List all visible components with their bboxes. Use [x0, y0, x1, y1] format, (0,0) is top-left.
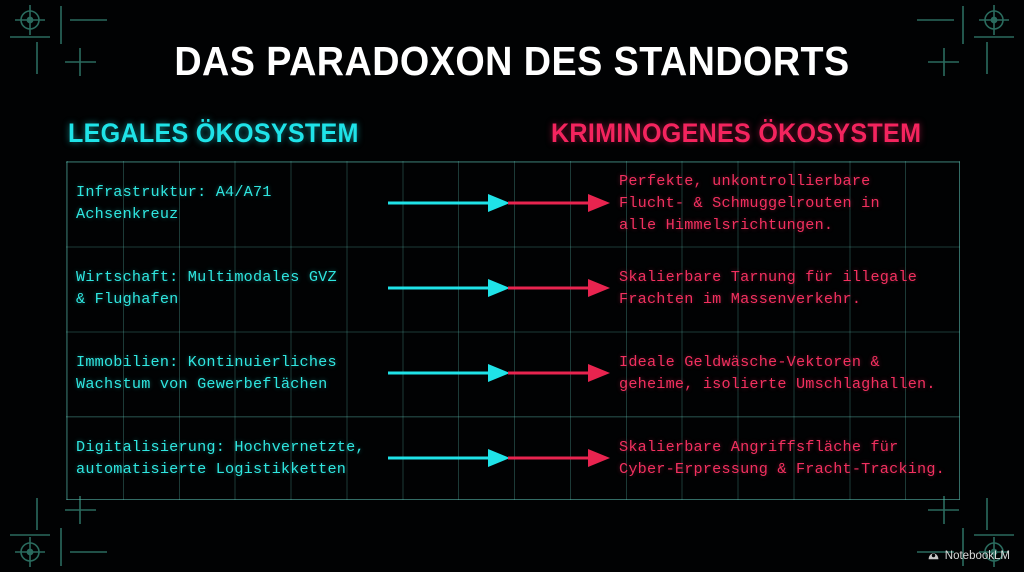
table-row: Immobilien: Kontinuierliches Wachstum vo… — [66, 331, 960, 416]
column-heading-legal: LEGALES ÖKOSYSTEM — [68, 118, 359, 149]
table-row: Digitalisierung: Hochvernetzte, automati… — [66, 415, 960, 500]
notebooklm-logo-icon — [927, 549, 940, 562]
row-legal-text: Infrastruktur: A4/A71 Achsenkreuz — [76, 161, 386, 246]
table-row: Wirtschaft: Multimodales GVZ & Flughafen… — [66, 246, 960, 331]
row-arrow-pair — [388, 331, 610, 416]
corner-mark-bottom-left — [4, 492, 114, 568]
row-legal-text: Digitalisierung: Hochvernetzte, automati… — [76, 415, 386, 500]
page-title: DAS PARADOXON DES STANDORTS — [41, 38, 983, 85]
row-arrow-pair — [388, 415, 610, 500]
row-arrow-pair — [388, 246, 610, 331]
watermark-label: NotebookLM — [945, 550, 1010, 562]
table-row: Infrastruktur: A4/A71 Achsenkreuz Perfek… — [66, 161, 960, 246]
column-heading-criminogenic: KRIMINOGENES ÖKOSYSTEM — [551, 118, 921, 149]
notebooklm-watermark: NotebookLM — [927, 549, 1010, 562]
arrow-flow-icon — [388, 363, 610, 383]
row-legal-text: Immobilien: Kontinuierliches Wachstum vo… — [76, 331, 386, 416]
arrow-flow-icon — [388, 193, 610, 213]
infographic-canvas: DAS PARADOXON DES STANDORTS LEGALES ÖKOS… — [0, 0, 1024, 572]
row-criminogenic-text: Perfekte, unkontrollierbare Flucht- & Sc… — [619, 161, 964, 246]
row-criminogenic-text: Ideale Geldwäsche-Vektoren & geheime, is… — [619, 331, 964, 416]
row-arrow-pair — [388, 161, 610, 246]
row-legal-text: Wirtschaft: Multimodales GVZ & Flughafen — [76, 246, 386, 331]
crosshair-registration-icon — [4, 492, 114, 568]
arrow-flow-icon — [388, 278, 610, 298]
arrow-flow-icon — [388, 448, 610, 468]
row-criminogenic-text: Skalierbare Tarnung für illegale Frachte… — [619, 246, 964, 331]
row-criminogenic-text: Skalierbare Angriffsfläche für Cyber-Erp… — [619, 415, 964, 500]
